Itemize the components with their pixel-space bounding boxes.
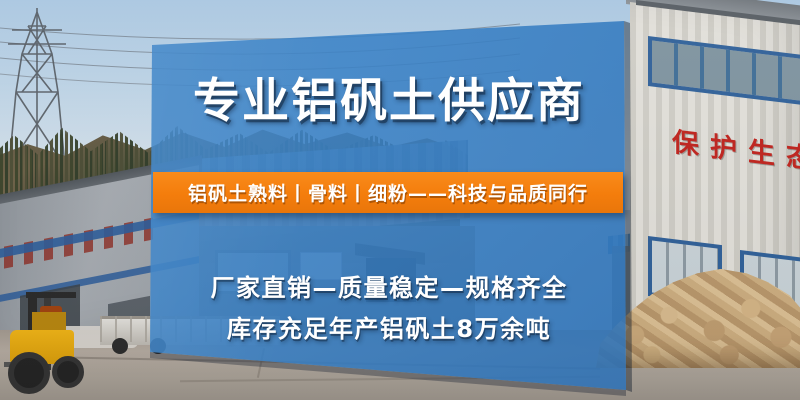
banner-subtitle-line-1: 厂家直销—质量稳定—规格齐全 — [150, 268, 628, 303]
promo-banner-image: 保护生态 专业铝矾土供应商 铝矾土熟料丨骨料丨细粉——科技与品质同行 厂家直销—… — [0, 0, 800, 400]
banner-title: 专业铝矾土供应商 — [150, 78, 628, 125]
banner-subtitle-line-2: 库存充足年产铝矾土8万余吨 — [150, 309, 628, 344]
banner-content: 专业铝矾土供应商 铝矾土熟料丨骨料丨细粉——科技与品质同行 厂家直销—质量稳定—… — [150, 21, 628, 396]
orange-ribbon: 铝矾土熟料丨骨料丨细粉——科技与品质同行 — [153, 172, 623, 213]
ribbon-text: 铝矾土熟料丨骨料丨细粉——科技与品质同行 — [188, 179, 588, 206]
